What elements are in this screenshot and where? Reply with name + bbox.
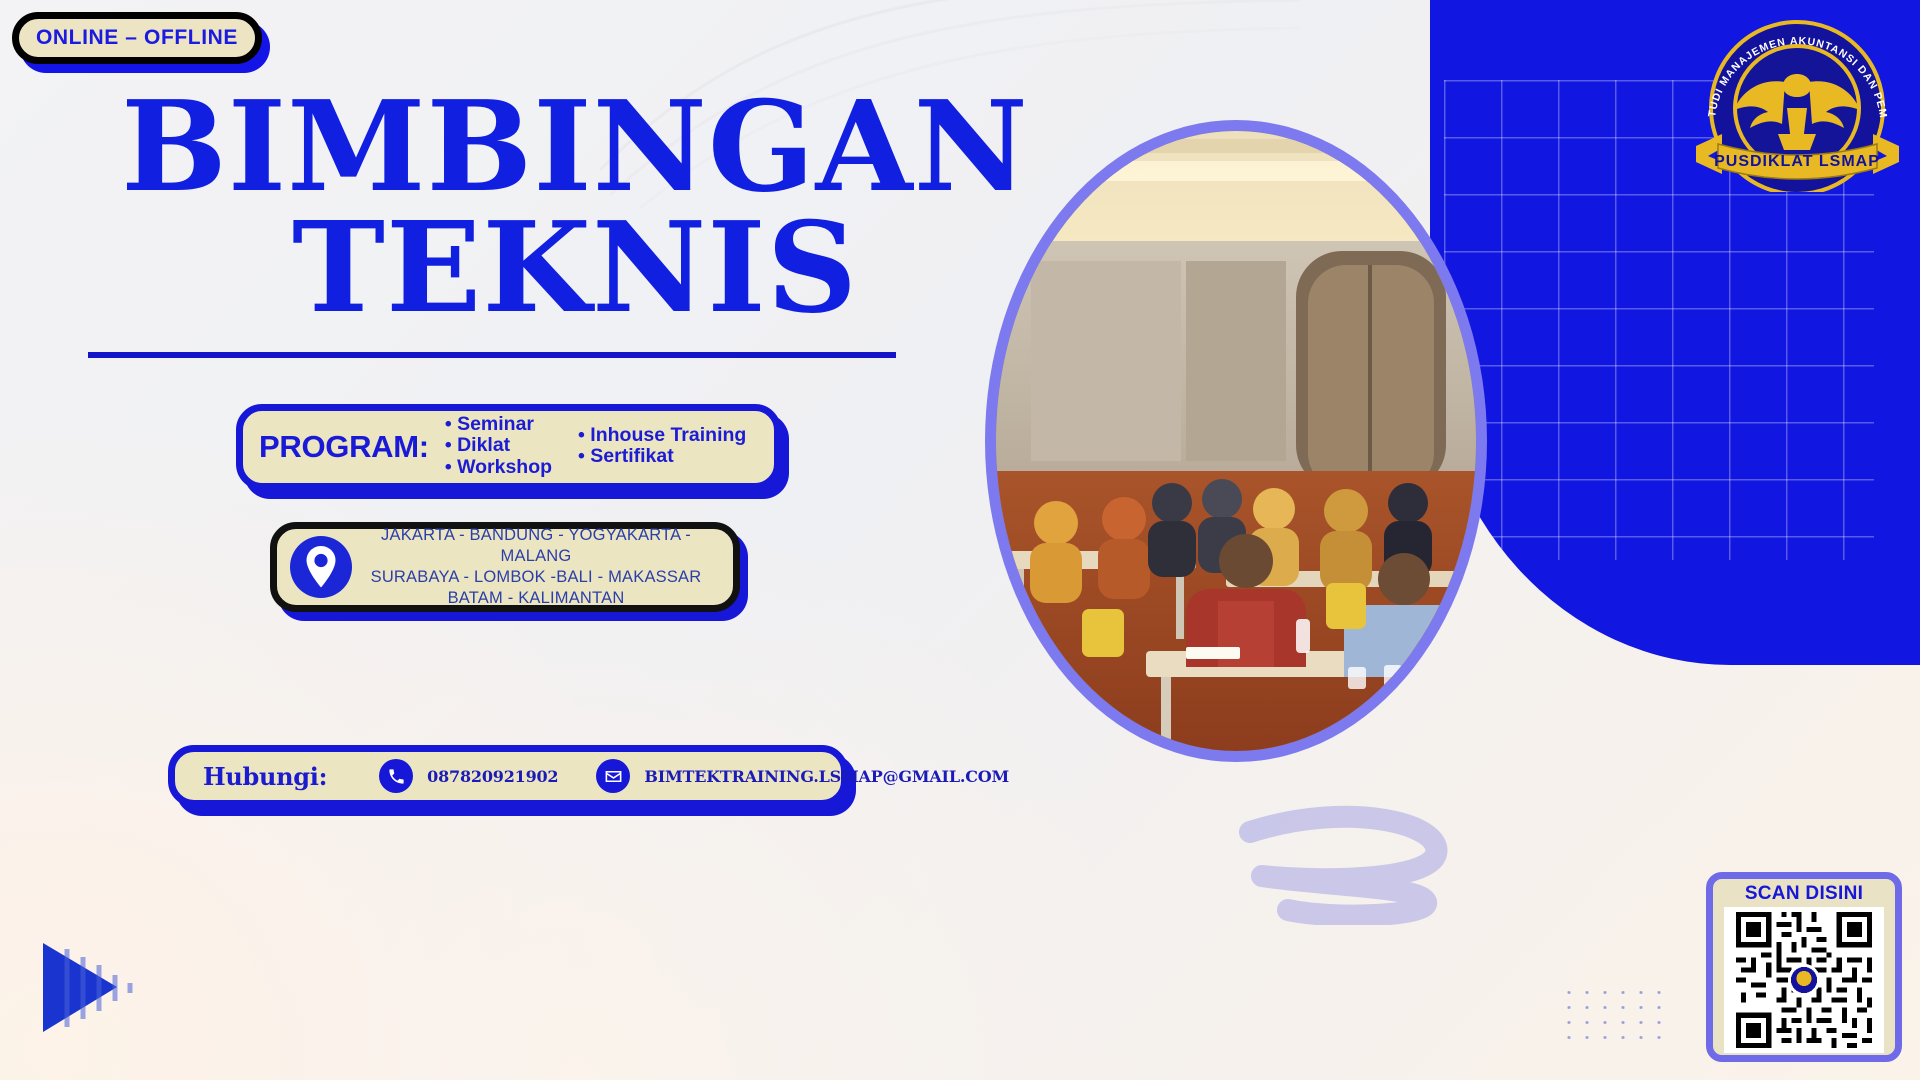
page-title: BIMBINGAN TEKNIS xyxy=(110,90,1040,326)
logo-banner-text: PUSDIKLAT LSMAP xyxy=(1714,153,1880,170)
mode-badge-label: ONLINE – OFFLINE xyxy=(36,26,238,50)
mode-badge: ONLINE – OFFLINE xyxy=(12,12,262,64)
program-column-1: Seminar Diklat Workshop xyxy=(445,414,552,479)
program-item: Seminar xyxy=(445,414,552,436)
program-item: Diklat xyxy=(445,435,552,457)
program-box: PROGRAM: Seminar Diklat Workshop Inhouse… xyxy=(236,404,781,490)
location-text: JAKARTA - BANDUNG - YOGYAKARTA - MALANG … xyxy=(353,525,733,609)
program-label: PROGRAM: xyxy=(259,429,429,465)
seminar-photo xyxy=(996,131,1476,751)
envelope-icon xyxy=(596,759,630,793)
location-line-2: SURABAYA - LOMBOK -BALI - MAKASSAR xyxy=(353,567,719,588)
phone-number: 087820921902 xyxy=(427,767,558,786)
scribble-icon xyxy=(1230,790,1460,925)
program-item: Inhouse Training xyxy=(578,425,746,447)
photo-oval xyxy=(985,120,1487,762)
contact-label: Hubungi: xyxy=(203,762,327,791)
organization-logo: LEMBAGA STUDI MANAJEMEN AKUNTANSI DAN PE… xyxy=(1690,12,1905,192)
qr-title: SCAN DISINI xyxy=(1745,883,1863,905)
play-triangle-icon xyxy=(35,935,155,1040)
phone-icon xyxy=(379,759,413,793)
dot-grid-icon xyxy=(1560,985,1670,1047)
location-line-1: JAKARTA - BANDUNG - YOGYAKARTA - MALANG xyxy=(353,525,719,567)
map-pin-icon xyxy=(289,535,353,599)
mode-badge-pill: ONLINE – OFFLINE xyxy=(12,12,262,64)
location-box: JAKARTA - BANDUNG - YOGYAKARTA - MALANG … xyxy=(270,522,740,612)
qr-card[interactable]: SCAN DISINI xyxy=(1706,872,1902,1062)
poster-canvas: ONLINE – OFFLINE BIMBINGAN TEKNIS PROGRA… xyxy=(0,0,1920,1080)
program-column-2: Inhouse Training Sertifikat xyxy=(578,414,746,479)
title-line-1: BIMBINGAN xyxy=(110,90,1040,205)
location-line-3: BATAM - KALIMANTAN xyxy=(353,588,719,609)
contact-box: Hubungi: 087820921902 BIMTEKTRAINING.LSM… xyxy=(168,745,848,807)
email-address: BIMTEKTRAINING.LSMAP@GMAIL.COM xyxy=(644,767,1009,786)
title-divider xyxy=(88,352,896,358)
program-item: Workshop xyxy=(445,457,552,479)
program-item: Sertifikat xyxy=(578,446,746,468)
qr-code-image[interactable] xyxy=(1724,907,1884,1053)
title-line-2: TEKNIS xyxy=(110,211,1040,326)
